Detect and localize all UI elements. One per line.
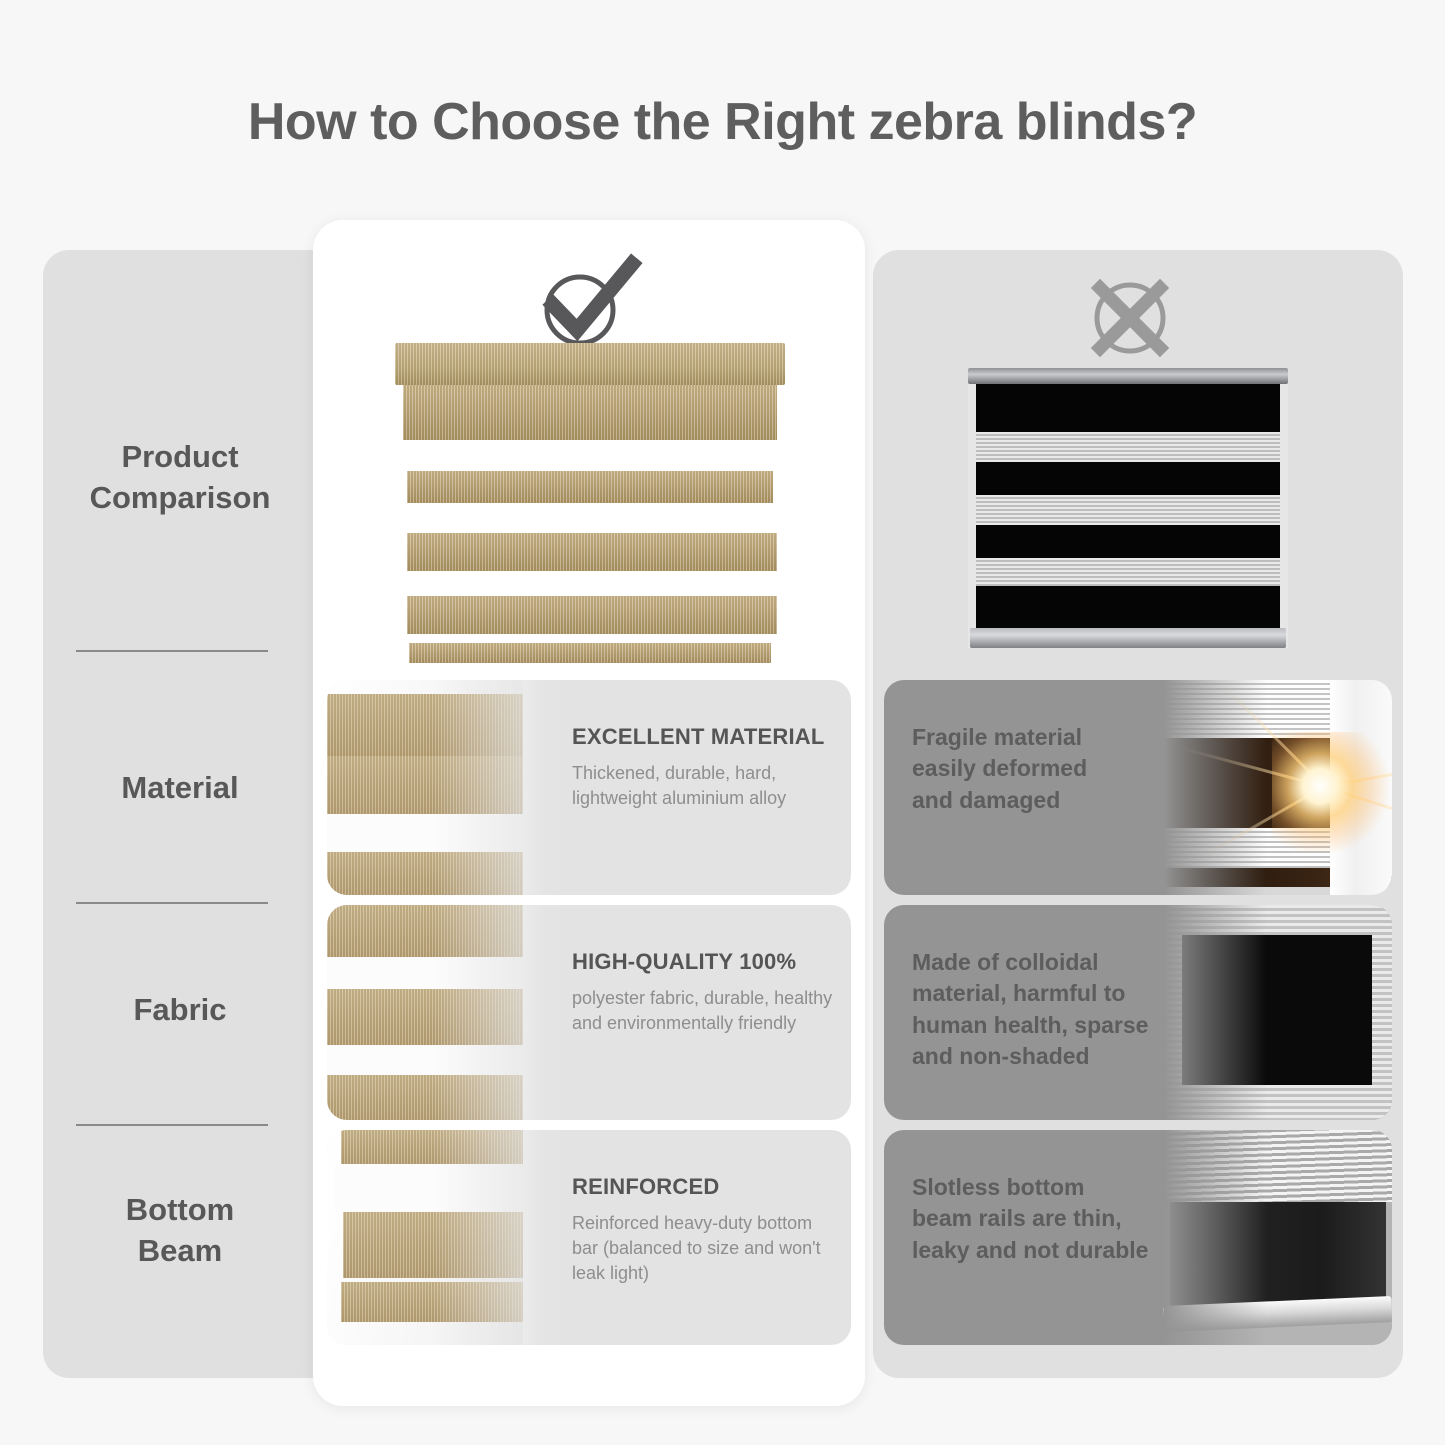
feature-text-block: REINFORCED Reinforced heavy-duty bottom … — [572, 1174, 834, 1285]
blind-slat — [403, 385, 777, 440]
sun-flare-light-leak-photo — [1164, 680, 1392, 895]
thin-bottom-rail-closeup-photo — [1164, 1130, 1392, 1345]
light-leak-scene — [1164, 680, 1392, 895]
blind-body — [1170, 1202, 1386, 1314]
row-label-fabric: Fabric — [60, 990, 300, 1031]
row-divider — [76, 650, 268, 652]
window-frame-edge — [523, 905, 562, 1120]
blind-sheer-stripes — [1164, 905, 1392, 1120]
blind-slats — [1164, 828, 1392, 868]
feature-text-block: EXCELLENT MATERIAL Thickened, durable, h… — [572, 724, 834, 811]
hero-image-bad-blind — [968, 368, 1288, 648]
row-label-text: Fabric — [133, 992, 226, 1027]
blind-slat — [327, 756, 523, 814]
feature-description: Thickened, durable, hard, lightweight al… — [572, 761, 834, 811]
blind-slat — [327, 989, 523, 1045]
check-circle-icon — [533, 252, 643, 352]
sun-ray — [1324, 785, 1392, 834]
row-divider — [76, 1124, 268, 1126]
sun-ray — [1217, 680, 1325, 788]
feature-card-fabric-good: HIGH-QUALITY 100% polyester fabric, dura… — [327, 905, 851, 1120]
blind-slats — [1164, 680, 1392, 738]
blind-slat — [341, 1130, 523, 1164]
feature-card-material-good: EXCELLENT MATERIAL Thickened, durable, h… — [327, 680, 851, 895]
window-jamb — [1330, 680, 1392, 895]
beige-bottom-beam-closeup-photo — [327, 1130, 562, 1345]
window-frame — [327, 1130, 562, 1345]
window-frame — [327, 905, 562, 1120]
blind-slat — [407, 596, 777, 634]
blind-sheer-stripe — [327, 1045, 523, 1075]
blind-sheer-stripe — [335, 1164, 523, 1212]
beige-blind-fabric-closeup-photo — [327, 905, 562, 1120]
feature-card-bottom-beam-bad: Slotless bottom beam rails are thin, lea… — [884, 1130, 1392, 1345]
feature-title: HIGH-QUALITY 100% — [572, 949, 834, 975]
feature-card-material-bad: Fragile material easily deformed and dam… — [884, 680, 1392, 895]
drawback-text: Slotless bottom beam rails are thin, lea… — [912, 1172, 1162, 1266]
row-label-material: Material — [60, 768, 300, 809]
blind-light-stripe — [976, 495, 1280, 525]
row-label-bottom-beam: Bottom Beam — [60, 1190, 300, 1272]
sun-ray — [1324, 759, 1392, 788]
blind-slat — [407, 533, 777, 571]
blind-slat — [327, 852, 523, 895]
row-label-text: Bottom Beam — [126, 1192, 234, 1268]
sun-ray — [1193, 785, 1324, 863]
row-divider — [76, 902, 268, 904]
sun-flare — [1272, 732, 1392, 852]
blind-sheer-stripe — [327, 957, 523, 989]
drawback-text: Made of colloidal material, harmful to h… — [912, 947, 1162, 1072]
blind-body — [1182, 935, 1372, 1085]
blind-bottom-rail — [970, 628, 1286, 648]
dark-blind-area — [1164, 738, 1392, 828]
beige-blind-window-closeup-photo — [327, 680, 562, 895]
page-title: How to Choose the Right zebra blinds? — [0, 92, 1445, 152]
blind-slat — [407, 471, 773, 503]
blind-slat — [327, 1075, 523, 1120]
window-frame — [327, 680, 562, 895]
window-frame-edge — [523, 680, 562, 895]
feature-description: polyester fabric, durable, healthy and e… — [572, 986, 834, 1036]
thin-bottom-rail — [1164, 1296, 1392, 1332]
blind-slat — [343, 1212, 523, 1278]
sun-ray — [1179, 746, 1325, 788]
black-blind-scene — [1164, 905, 1392, 1120]
thin-rail-scene — [1164, 1130, 1392, 1345]
blind-slat — [327, 694, 523, 756]
feature-card-fabric-bad: Made of colloidal material, harmful to h… — [884, 905, 1392, 1120]
row-label-text: Product Comparison — [90, 439, 271, 515]
window-frame-edge — [523, 1130, 562, 1345]
feature-title: EXCELLENT MATERIAL — [572, 724, 834, 750]
black-blind-fabric-closeup-photo — [1164, 905, 1392, 1120]
feature-text-block: HIGH-QUALITY 100% polyester fabric, dura… — [572, 949, 834, 1036]
blind-top-rail — [968, 368, 1288, 384]
feature-card-bottom-beam-good: REINFORCED Reinforced heavy-duty bottom … — [327, 1130, 851, 1345]
blind-headrail — [395, 343, 785, 385]
blind-light-stripe — [976, 432, 1280, 462]
blind-light-stripe — [976, 558, 1280, 586]
row-label-text: Material — [121, 770, 238, 805]
blind-bottom-bar — [341, 1282, 523, 1322]
dark-blind-area — [1164, 839, 1392, 887]
drawback-text: Fragile material easily deformed and dam… — [912, 722, 1162, 816]
feature-title: REINFORCED — [572, 1174, 834, 1200]
feature-description: Reinforced heavy-duty bottom bar (balanc… — [572, 1211, 834, 1285]
hero-image-good-blind — [395, 343, 785, 663]
blind-bottom-bar — [409, 643, 771, 663]
blind-body — [976, 382, 1280, 632]
row-label-product-comparison: Product Comparison — [60, 437, 300, 519]
blind-sheer-stripe — [327, 814, 523, 852]
cross-circle-icon — [1078, 268, 1188, 368]
blind-slats — [1164, 1130, 1392, 1202]
blind-slat — [327, 905, 523, 957]
